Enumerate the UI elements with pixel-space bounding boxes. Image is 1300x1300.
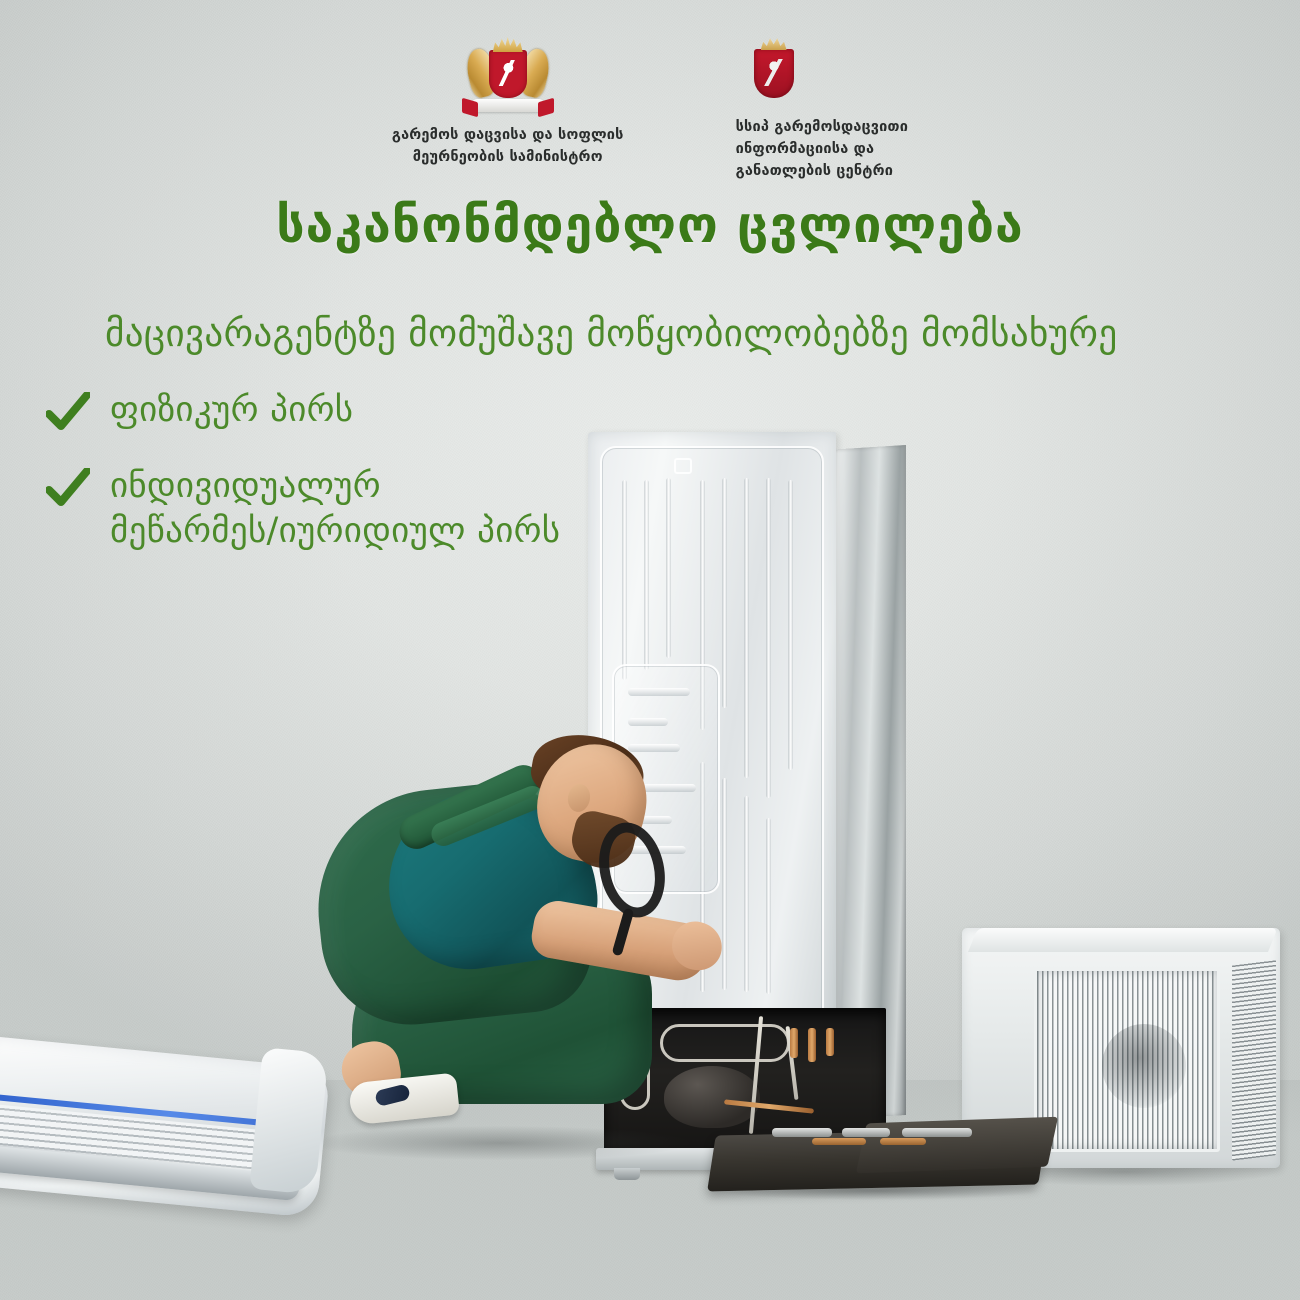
checkmark-icon xyxy=(46,392,90,434)
logo-center: სსიპ გარემოსდაცვითი ინფორმაციისა და განა… xyxy=(736,36,909,182)
logo-ministry-caption-line1: გარემოს დაცვისა და სოფლის xyxy=(392,125,624,147)
environmental-information-center-emblem-icon xyxy=(750,36,798,100)
page-title: საკანონმდებლო ცვლილება xyxy=(0,196,1300,254)
logo-center-caption-line3: განათლების ცენტრი xyxy=(736,161,909,183)
list-item-label: ფიზიკურ პირს xyxy=(110,388,353,433)
list-item-label-multiline: ინდივიდუალურ მეწარმეს/იურიდიულ პირს xyxy=(110,464,560,554)
logo-center-caption-line1: სსიპ გარემოსდაცვითი xyxy=(736,117,909,139)
header-logo-row: გარემოს დაცვისა და სოფლის მეურნეობის სამ… xyxy=(0,36,1300,182)
page-subtitle: მაცივარაგენტზე მომუშავე მოწყობილობებზე მ… xyxy=(105,312,1118,355)
list-item: ფიზიკურ პირს xyxy=(46,388,560,434)
poster-canvas: გარემოს დაცვისა და სოფლის მეურნეობის სამ… xyxy=(0,0,1300,1300)
georgia-coat-of-arms-icon xyxy=(460,36,556,116)
open-tool-tray-with-tools xyxy=(712,1112,1056,1208)
logo-center-caption: სსიპ გარემოსდაცვითი ინფორმაციისა და განა… xyxy=(736,117,909,182)
logo-ministry: გარემოს დაცვისა და სოფლის მეურნეობის სამ… xyxy=(392,36,624,169)
logo-ministry-caption: გარემოს დაცვისა და სოფლის მეურნეობის სამ… xyxy=(392,125,624,169)
condenser-fan xyxy=(1102,1024,1186,1108)
list-item: ინდივიდუალურ მეწარმეს/იურიდიულ პირს xyxy=(46,464,560,554)
logo-ministry-caption-line2: მეურნეობის სამინისტრო xyxy=(392,147,624,169)
bullet-list: ფიზიკურ პირს ინდივიდუალურ მეწარმეს/იურიდ… xyxy=(46,388,560,584)
technician-shadow xyxy=(310,1126,690,1160)
checkmark-icon xyxy=(46,468,90,510)
list-item-label-line2: მეწარმეს/იურიდიულ პირს xyxy=(110,509,560,554)
list-item-label-line1: ინდივიდუალურ xyxy=(110,464,560,509)
technician-kneeling-repairing-refrigerator xyxy=(300,726,720,1176)
logo-center-caption-line2: ინფორმაციისა და xyxy=(736,139,909,161)
split-air-conditioner-indoor-wall-unit xyxy=(0,1042,330,1262)
condenser-side-fins xyxy=(1232,959,1276,1160)
